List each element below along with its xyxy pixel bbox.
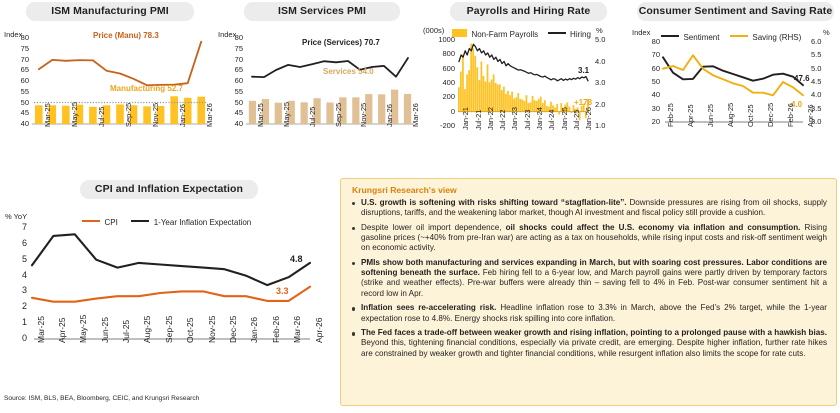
x-axis-label: Mar-25 xyxy=(36,316,46,343)
x-axis-label: May-25 xyxy=(70,102,79,127)
x-axis-label: Dec-25 xyxy=(228,316,238,343)
research-view-bullet: U.S. growth is softening with risks shif… xyxy=(350,198,827,218)
x-axis-label: Jul-25 xyxy=(308,107,317,127)
research-view-bullet: Inflation sees re-accelerating risk. Hea… xyxy=(350,303,827,323)
x-axis-label: Mar-26 xyxy=(411,103,420,127)
x-axis-label: Nov-25 xyxy=(359,103,368,127)
chart-plot-area xyxy=(218,0,426,172)
x-axis-label: Jan-25 xyxy=(560,107,569,130)
chart-plot-area xyxy=(426,0,631,172)
x-axis-label: Jan-26 xyxy=(584,107,593,130)
x-axis-label: Mar-25 xyxy=(43,103,52,127)
x-axis-label: Apr-26 xyxy=(314,317,324,343)
annotation-hiring-value: 3.1 xyxy=(578,66,589,75)
x-axis-label: Oct-25 xyxy=(746,104,755,127)
x-axis-label: Jul-25 xyxy=(97,107,106,127)
x-axis-label: Feb-26 xyxy=(786,103,795,127)
x-axis-label: Feb-26 xyxy=(271,316,281,343)
x-axis-label: Feb-25 xyxy=(666,103,675,127)
research-view-bullet: Despite lower oil import dependence, oil… xyxy=(350,223,827,254)
x-axis-label: Jul-22 xyxy=(498,110,507,130)
annotation-manufacturing: Manufacturing 52.7 xyxy=(110,84,183,93)
research-view-bullet: PMIs show both manufacturing and service… xyxy=(350,258,827,299)
x-axis-label: Mar-26 xyxy=(205,103,214,127)
x-axis-label: Jan-22 xyxy=(486,107,495,130)
x-axis-label: Apr-25 xyxy=(57,317,67,343)
x-axis-label: Sep-25 xyxy=(334,103,343,127)
x-axis-label: Mar-25 xyxy=(256,103,265,127)
x-axis-label: Jan-26 xyxy=(249,317,259,343)
x-axis-label: Mar-26 xyxy=(292,316,302,343)
x-axis-label: Jul-25 xyxy=(572,110,581,130)
x-axis-label: May-25 xyxy=(78,315,88,343)
annotation-cpi-value: 3.3 xyxy=(276,286,289,296)
x-axis-label: Jan-23 xyxy=(510,107,519,130)
annotation-price-manu: Price (Manu) 78.3 xyxy=(93,31,159,40)
chart-payrolls-hiring: Payrolls and Hiring Rate (000s) % Non-Fa… xyxy=(426,0,631,172)
x-axis-label: Jul-21 xyxy=(474,110,483,130)
x-axis-label: Nov-25 xyxy=(151,103,160,127)
x-axis-label: Jan-24 xyxy=(535,107,544,130)
chart-plot-area xyxy=(631,0,840,172)
x-axis-label: Jul-25 xyxy=(121,320,131,343)
x-axis-label: Sep-25 xyxy=(124,103,133,127)
research-view-title: Krungsri Research's view xyxy=(352,185,827,195)
x-axis-label: Jun-25 xyxy=(706,104,715,127)
x-axis-label: Sep-25 xyxy=(164,316,174,343)
annotation-price-services: Price (Services) 70.7 xyxy=(302,38,380,47)
x-axis-label: Jan-26 xyxy=(385,104,394,127)
x-axis-label: Aug-25 xyxy=(142,316,152,343)
research-view-bullet: The Fed faces a trade-off between weaker… xyxy=(350,328,827,359)
x-axis-label: Nov-25 xyxy=(207,316,217,343)
annotation-payroll-value: +178 xyxy=(574,98,592,107)
x-axis-label: May-25 xyxy=(282,102,291,127)
x-axis-label: Jun-25 xyxy=(100,317,110,343)
research-view-bullets: U.S. growth is softening with risks shif… xyxy=(350,198,827,359)
x-axis-label: Dec-25 xyxy=(766,103,775,127)
x-axis-label: Jul-23 xyxy=(523,110,532,130)
x-axis-label: Jan-21 xyxy=(461,107,470,130)
x-axis-label: Apr-26 xyxy=(806,104,815,127)
chart-plot-area xyxy=(0,0,218,172)
annotation-expectation-value: 4.8 xyxy=(290,254,303,264)
x-axis-label: Jan-26 xyxy=(178,104,187,127)
source-note: Source: ISM, BLS, BEA, Bloomberg, CEIC, … xyxy=(4,395,199,402)
x-axis-label: Oct-25 xyxy=(185,317,195,343)
research-view-panel: Krungsri Research's view U.S. growth is … xyxy=(340,178,837,406)
annotation-services: Services 54.0 xyxy=(323,67,374,76)
chart-ism-manufacturing: ISM Manufacturing PMI Index 404550556065… xyxy=(0,0,218,172)
x-axis-label: Apr-25 xyxy=(686,104,695,127)
x-axis-label: Jul-24 xyxy=(547,110,556,130)
annotation-sentiment-value: 47.6 xyxy=(794,74,810,83)
x-axis-label: Aug-25 xyxy=(726,103,735,127)
chart-sentiment-saving: Consumer Sentiment and Saving Rate Index… xyxy=(631,0,840,172)
chart-ism-services: ISM Services PMI Index 40455055606570758… xyxy=(218,0,426,172)
chart-cpi-inflation: CPI and Inflation Expectation % YoY CPI … xyxy=(0,176,336,413)
